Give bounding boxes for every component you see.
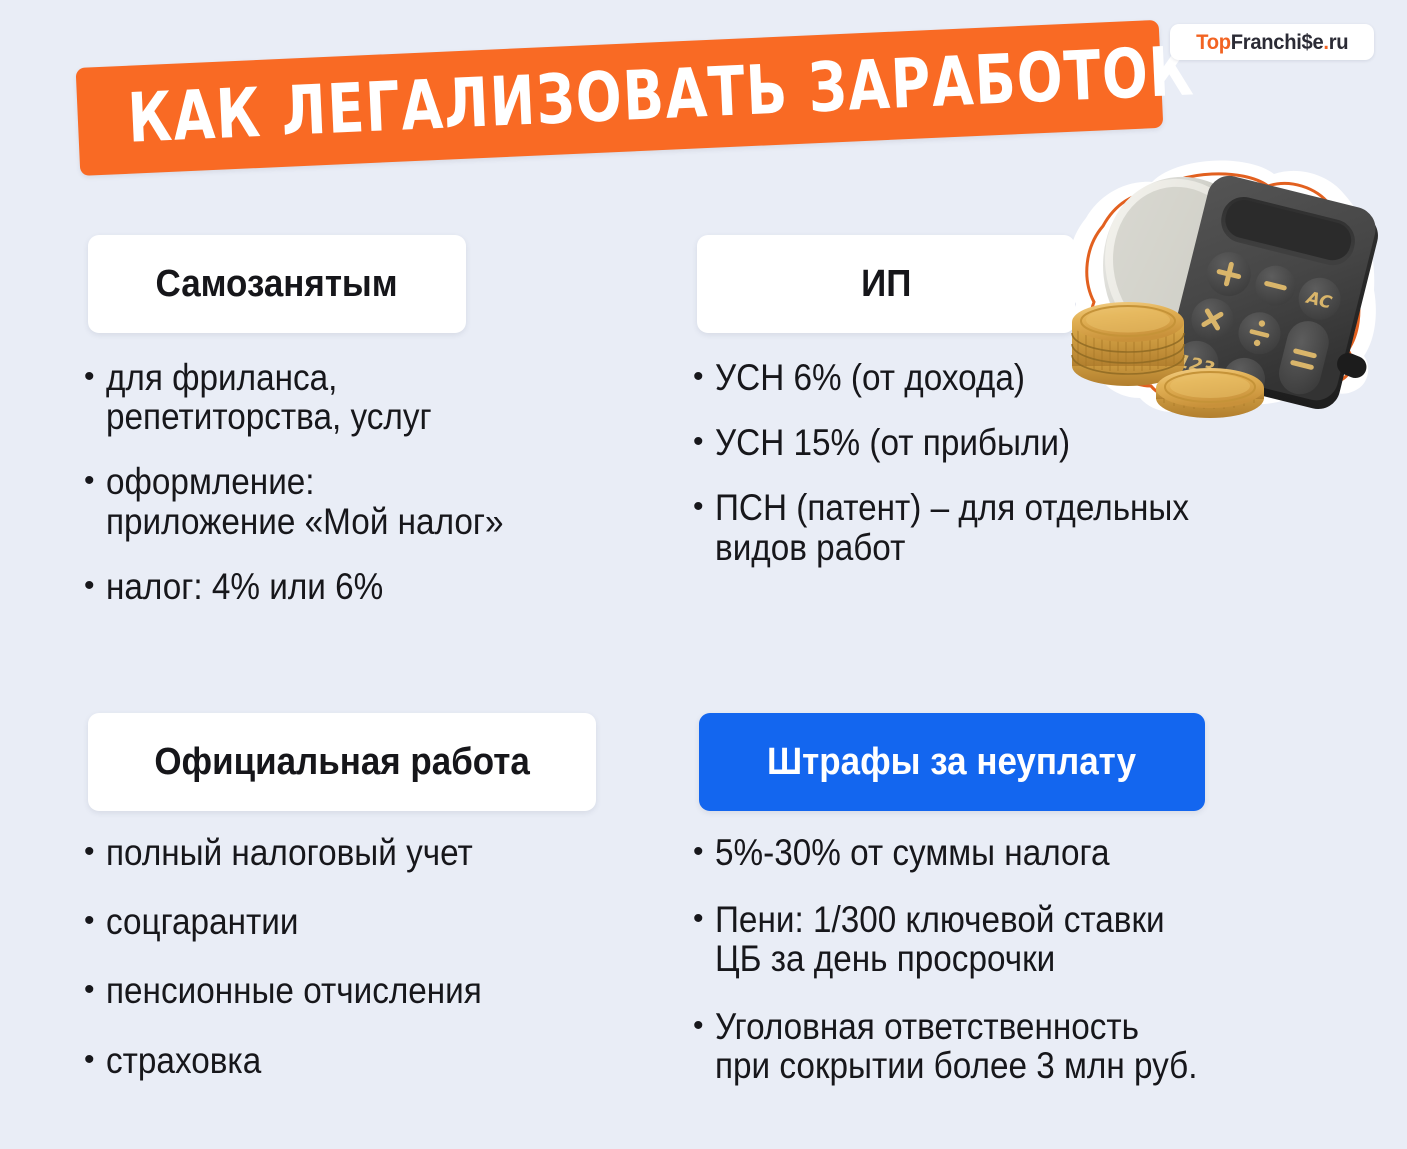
list-item-text: налог: 4% или 6% xyxy=(106,567,383,606)
list-item-text: для фриланса, репетиторства, услуг xyxy=(106,358,432,436)
list-item: •ПСН (патент) – для отдельных видов рабо… xyxy=(693,488,1313,566)
list-item: •пенсионные отчисления xyxy=(84,971,664,1010)
page-title: КАК ЛЕГАЛИЗОВАТЬ ЗАРАБОТОК xyxy=(126,38,1195,153)
section-header-label: Штрафы за неуплату xyxy=(767,743,1136,781)
list-item: •соцгарантии xyxy=(84,902,664,941)
bullet-marker-icon: • xyxy=(84,567,106,605)
bullet-marker-icon: • xyxy=(693,833,715,871)
bullet-marker-icon: • xyxy=(84,462,106,500)
bullet-marker-icon: • xyxy=(84,902,106,940)
brand-logo[interactable]: TopFranchi$e.ru xyxy=(1170,24,1374,60)
bullet-marker-icon: • xyxy=(693,423,715,461)
title-banner: КАК ЛЕГАЛИЗОВАТЬ ЗАРАБОТОК xyxy=(76,20,1164,176)
list-item: •Пени: 1/300 ключевой ставки ЦБ за день … xyxy=(693,900,1318,978)
logo-part-tld: .ru xyxy=(1323,31,1348,54)
list-item-text: Пени: 1/300 ключевой ставки ЦБ за день п… xyxy=(715,900,1165,978)
section-header-label: Официальная работа xyxy=(154,743,530,781)
infographic-canvas: TopFranchi$e.ru КАК ЛЕГАЛИЗОВАТЬ ЗАРАБОТ… xyxy=(0,0,1407,1149)
list-item: •налог: 4% или 6% xyxy=(84,567,644,606)
calculator-coins-sticker: AC xyxy=(1060,160,1385,435)
list-item-text: УСН 15% (от прибыли) xyxy=(715,423,1070,462)
list-item: •страховка xyxy=(84,1041,664,1080)
bullet-marker-icon: • xyxy=(693,1007,715,1045)
brand-logo-text: TopFranchi$e.ru xyxy=(1196,32,1348,53)
bullet-marker-icon: • xyxy=(84,358,106,396)
section-header-official-job: Официальная работа xyxy=(88,713,596,811)
section-header-self-employed: Самозанятым xyxy=(88,235,466,333)
list-item: •Уголовная ответственность при сокрытии … xyxy=(693,1007,1318,1085)
list-item: •для фриланса, репетиторства, услуг xyxy=(84,358,644,436)
list-item: •5%-30% от суммы налога xyxy=(693,833,1318,872)
bullet-marker-icon: • xyxy=(693,900,715,938)
list-item-text: пенсионные отчисления xyxy=(106,971,482,1010)
list-item-text: соцгарантии xyxy=(106,902,298,941)
logo-part-franchise: Franchi$e xyxy=(1231,31,1324,54)
list-item-text: 5%-30% от суммы налога xyxy=(715,833,1109,872)
list-item: •полный налоговый учет xyxy=(84,833,664,872)
bullet-marker-icon: • xyxy=(84,833,106,871)
gold-coin-single xyxy=(1156,368,1264,418)
bullet-list-official-job: •полный налоговый учет •соцгарантии •пен… xyxy=(84,833,664,1110)
list-item-text: ПСН (патент) – для отдельных видов работ xyxy=(715,488,1189,566)
bullet-marker-icon: • xyxy=(693,488,715,526)
gold-coin-stack xyxy=(1072,302,1184,386)
bullet-list-fines: •5%-30% от суммы налога •Пени: 1/300 клю… xyxy=(693,833,1318,1113)
list-item-text: страховка xyxy=(106,1041,261,1080)
section-header-fines: Штрафы за неуплату xyxy=(699,713,1205,811)
list-item-text: Уголовная ответственность при сокрытии б… xyxy=(715,1007,1197,1085)
logo-part-top: Top xyxy=(1196,31,1231,54)
list-item-text: УСН 6% (от дохода) xyxy=(715,358,1025,397)
section-header-label: ИП xyxy=(861,265,911,303)
section-header-label: Самозанятым xyxy=(156,265,398,303)
bullet-list-self-employed: •для фриланса, репетиторства, услуг •офо… xyxy=(84,358,644,632)
list-item-text: оформление: приложение «Мой налог» xyxy=(106,462,504,540)
bullet-marker-icon: • xyxy=(84,1041,106,1079)
list-item: •оформление: приложение «Мой налог» xyxy=(84,462,644,540)
section-header-ip: ИП xyxy=(697,235,1075,333)
bullet-marker-icon: • xyxy=(693,358,715,396)
bullet-marker-icon: • xyxy=(84,971,106,1009)
list-item-text: полный налоговый учет xyxy=(106,833,473,872)
